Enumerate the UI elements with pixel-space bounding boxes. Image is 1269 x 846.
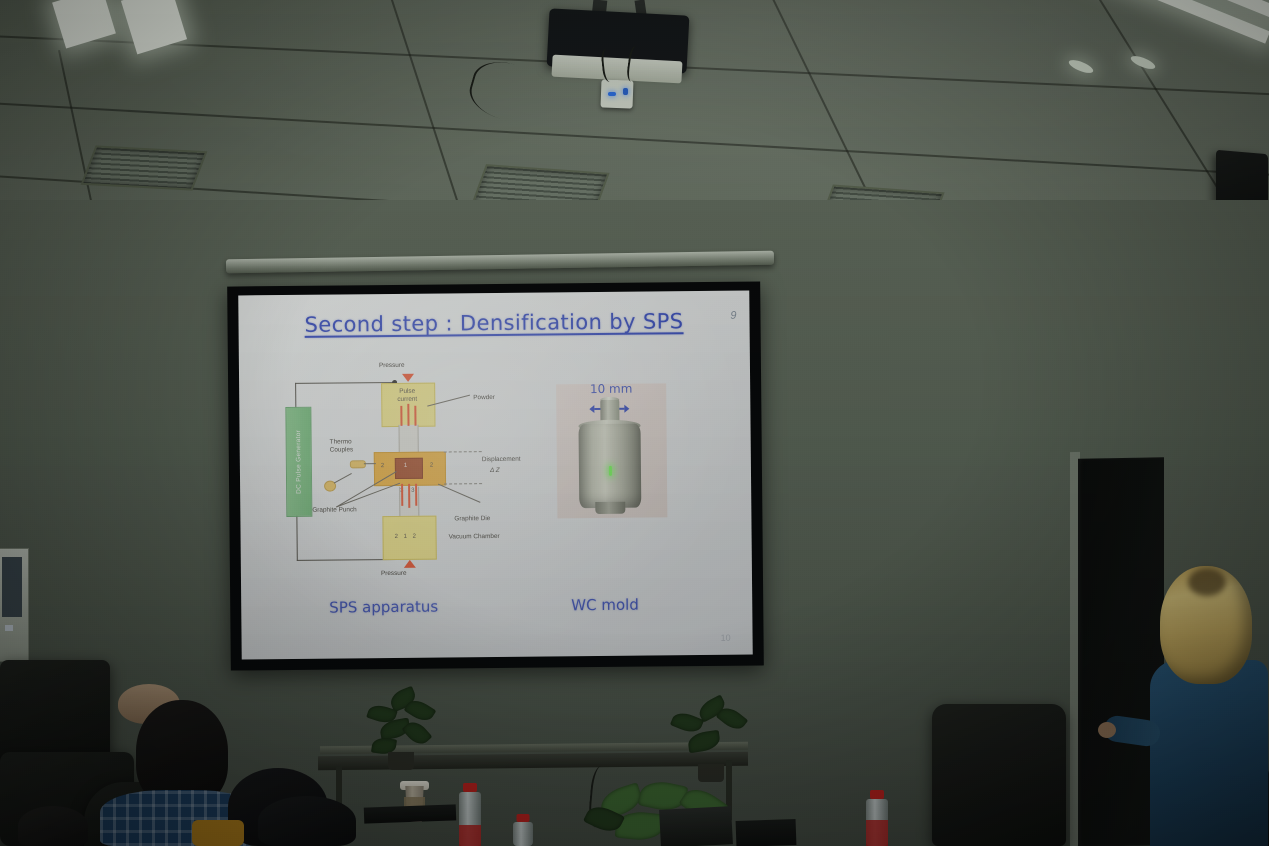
caption-wc-mold: WC mold xyxy=(571,596,639,615)
water-bottle xyxy=(513,814,533,846)
office-chair[interactable] xyxy=(932,704,1066,846)
mold-dimension-label: 10 mm xyxy=(556,381,666,396)
dc-pulse-generator-label: DC Pulse Generator xyxy=(295,430,303,494)
ceiling-light xyxy=(1092,0,1269,32)
current-flow-line xyxy=(414,406,416,426)
laser-pointer-dot xyxy=(609,466,612,476)
thermocouple-lead xyxy=(364,463,376,464)
punch-digit: 2 xyxy=(430,463,433,471)
monitor[interactable] xyxy=(659,806,733,846)
powder-label: Powder xyxy=(473,394,495,402)
laptop[interactable] xyxy=(364,804,457,823)
pressure-bottom-label: Pressure xyxy=(381,570,407,578)
ceiling-grid-line xyxy=(0,96,1269,182)
graphite-die-label: Graphite Die xyxy=(454,515,490,523)
sps-apparatus-diagram: DC Pulse Generator Pressure Pulse curren… xyxy=(277,363,529,590)
punch-digits-label: 2 1 2 xyxy=(395,534,418,542)
slide-number: 9 xyxy=(730,310,736,322)
water-bottle xyxy=(866,790,888,846)
audience-head xyxy=(18,806,88,846)
thermo-couples-label: Thermo Couples xyxy=(330,438,372,454)
current-flow-line xyxy=(408,484,410,508)
ceiling-light xyxy=(1052,0,1269,44)
vacuum-chamber-label: Vacuum Chamber xyxy=(449,533,500,541)
ceiling-light xyxy=(121,0,187,54)
presenter-hair xyxy=(1160,566,1252,684)
caption-sps-apparatus: SPS apparatus xyxy=(329,598,438,617)
presenter-body xyxy=(1150,660,1268,846)
wc-mold-photo: 10 mm xyxy=(556,383,667,518)
bottle-cap xyxy=(870,790,884,799)
panel-button[interactable] xyxy=(5,625,13,631)
pressure-top-label: Pressure xyxy=(379,362,405,370)
projection-screen: Second step : Densification by SPS 9 10 … xyxy=(227,281,764,670)
current-flow-line xyxy=(407,404,409,426)
hvac-vent xyxy=(81,145,208,190)
ceiling-light xyxy=(1067,57,1094,75)
current-flow-line xyxy=(400,406,402,426)
presenter-hand xyxy=(1098,722,1116,738)
audience-head xyxy=(258,796,356,846)
displacement-guide xyxy=(444,451,482,452)
bottle-cap xyxy=(463,783,477,792)
powder-digit: 1 xyxy=(404,463,407,471)
bottle-label xyxy=(459,825,481,846)
displacement-symbol: Δ Z xyxy=(490,467,500,475)
bottle-label xyxy=(866,820,888,846)
panel-display xyxy=(2,557,22,617)
punch-digit: 2 xyxy=(381,463,384,471)
pressure-arrow-down xyxy=(402,374,414,382)
graphite-punch-label: Graphite Punch xyxy=(312,506,356,514)
bottle-body xyxy=(513,822,533,846)
projector-receiver-box xyxy=(601,79,634,108)
current-flow-line xyxy=(401,484,403,506)
thermocouple-probe xyxy=(350,460,366,468)
slide-footer-number: 10 xyxy=(721,633,731,643)
ceiling-light xyxy=(52,0,116,49)
dc-pulse-generator-block: DC Pulse Generator xyxy=(285,407,312,517)
water-bottle xyxy=(459,783,481,846)
displacement-guide xyxy=(444,483,482,484)
graphite-die-leader xyxy=(438,484,481,503)
wall-control-panel[interactable] xyxy=(0,548,29,662)
pulse-current-label: Pulse current xyxy=(389,388,425,404)
audience-shoulder xyxy=(192,820,244,846)
current-flow-line xyxy=(415,484,417,506)
slide-title: Second step : Densification by SPS xyxy=(238,309,749,338)
bottle-cap xyxy=(517,814,530,822)
potted-plant xyxy=(366,690,438,770)
displacement-label: Displacement xyxy=(482,456,521,464)
powder-compact xyxy=(395,458,423,479)
ceiling-light xyxy=(1129,53,1156,71)
status-led xyxy=(623,88,628,95)
potted-plant xyxy=(672,700,750,790)
laptop[interactable] xyxy=(736,819,797,846)
photo-scene: Second step : Densification by SPS 9 10 … xyxy=(0,0,1269,846)
pressure-arrow-up xyxy=(404,560,416,568)
slide-surface: Second step : Densification by SPS 9 10 … xyxy=(238,291,752,660)
mold-foot xyxy=(595,502,625,514)
status-led xyxy=(608,92,616,96)
